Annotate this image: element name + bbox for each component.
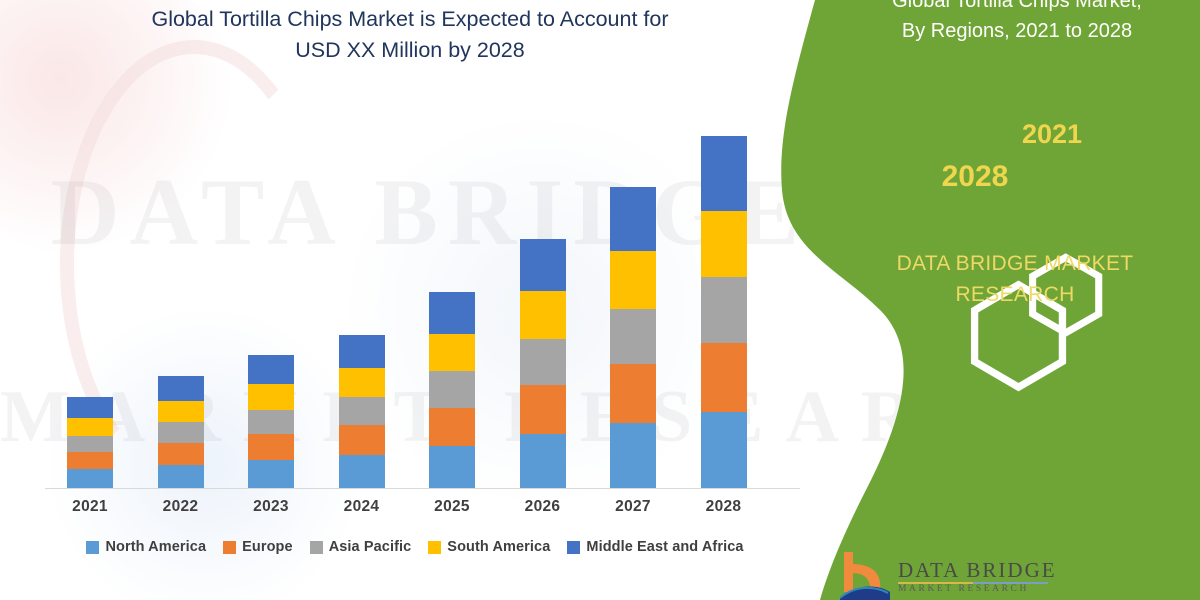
bar-segment-2022-europe — [158, 443, 204, 465]
bar-segment-2022-middle-east-and-africa — [158, 376, 204, 400]
bar-segment-2023-middle-east-and-africa — [248, 355, 294, 384]
bar-segment-2026-middle-east-and-africa — [520, 239, 566, 291]
bar-segment-2022-asia-pacific — [158, 422, 204, 443]
data-bridge-logo: DATA BRIDGE MARKET RESEARCH — [840, 552, 1170, 600]
panel-brand-text: DATA BRIDGE MARKET RESEARCH — [850, 248, 1180, 310]
x-axis-label-2024: 2024 — [317, 498, 407, 516]
bar-segment-2027-north-america — [610, 423, 656, 488]
x-axis-label-2021: 2021 — [45, 498, 135, 516]
chart-legend: North AmericaEuropeAsia PacificSouth Ame… — [45, 539, 785, 555]
legend-swatch-icon — [310, 541, 323, 554]
x-axis-label-2028: 2028 — [679, 498, 769, 516]
bar-segment-2021-europe — [67, 452, 113, 469]
bar-segment-2022-north-america — [158, 465, 204, 488]
hexagon-label-2021: 2021 — [1002, 119, 1102, 150]
bar-segment-2021-asia-pacific — [67, 436, 113, 452]
bar-segment-2027-south-america — [610, 251, 656, 308]
bar-segment-2023-north-america — [248, 460, 294, 488]
bar-2023 — [248, 355, 294, 488]
legend-item-south-america[interactable]: South America — [428, 539, 550, 555]
bar-2025 — [429, 292, 475, 488]
hexagon-label-2028: 2028 — [920, 160, 1030, 194]
bar-segment-2023-south-america — [248, 384, 294, 410]
bar-segment-2028-asia-pacific — [701, 277, 747, 343]
legend-label: Asia Pacific — [329, 539, 412, 555]
bar-segment-2021-middle-east-and-africa — [67, 397, 113, 418]
x-axis-label-2027: 2027 — [588, 498, 678, 516]
bar-segment-2024-europe — [339, 425, 385, 455]
bar-segment-2021-north-america — [67, 469, 113, 488]
logo-mark-icon — [840, 552, 892, 600]
legend-swatch-icon — [567, 541, 580, 554]
legend-label: South America — [447, 539, 550, 555]
bar-2021 — [67, 397, 113, 488]
logo-name: DATA BRIDGE — [898, 558, 1057, 583]
bar-segment-2023-europe — [248, 434, 294, 460]
bar-segment-2028-middle-east-and-africa — [701, 136, 747, 211]
bar-segment-2026-north-america — [520, 434, 566, 488]
bar-2024 — [339, 335, 385, 488]
bar-segment-2025-south-america — [429, 334, 475, 371]
bar-segment-2022-south-america — [158, 401, 204, 422]
bar-segment-2023-asia-pacific — [248, 410, 294, 434]
bar-2026 — [520, 239, 566, 488]
bar-2027 — [610, 187, 656, 488]
legend-item-europe[interactable]: Europe — [223, 539, 293, 555]
bar-segment-2024-middle-east-and-africa — [339, 335, 385, 368]
x-axis-label-2022: 2022 — [136, 498, 226, 516]
legend-item-north-america[interactable]: North America — [86, 539, 206, 555]
bar-segment-2025-north-america — [429, 446, 475, 488]
bar-segment-2027-middle-east-and-africa — [610, 187, 656, 251]
bar-2028 — [701, 136, 747, 488]
bar-segment-2026-asia-pacific — [520, 339, 566, 386]
bar-segment-2026-south-america — [520, 291, 566, 339]
legend-label: Europe — [242, 539, 293, 555]
chart-plot-area — [0, 0, 820, 488]
legend-swatch-icon — [86, 541, 99, 554]
bar-segment-2028-north-america — [701, 412, 747, 488]
bar-segment-2024-asia-pacific — [339, 397, 385, 425]
bar-segment-2025-europe — [429, 408, 475, 446]
bar-segment-2028-europe — [701, 343, 747, 412]
x-axis-label-2023: 2023 — [226, 498, 316, 516]
infographic-canvas: DATA BRIDGE MARKET RESEARCH Global Torti… — [0, 0, 1200, 600]
hexagon-group: 2021 2028 — [770, 0, 1200, 260]
x-axis-label-2026: 2026 — [498, 498, 588, 516]
bar-segment-2026-europe — [520, 385, 566, 434]
bar-segment-2028-south-america — [701, 211, 747, 277]
stacked-bar-chart: 20212022202320242025202620272028 — [0, 0, 820, 520]
bar-segment-2025-asia-pacific — [429, 371, 475, 407]
green-side-panel: Global Tortilla Chips Market, By Regions… — [770, 0, 1200, 600]
legend-swatch-icon — [223, 541, 236, 554]
legend-item-asia-pacific[interactable]: Asia Pacific — [310, 539, 412, 555]
legend-item-middle-east-and-africa[interactable]: Middle East and Africa — [567, 539, 743, 555]
bar-segment-2024-north-america — [339, 455, 385, 488]
panel-brand-line-1: DATA BRIDGE MARKET — [850, 248, 1180, 279]
x-axis-label-2025: 2025 — [407, 498, 497, 516]
bar-segment-2027-asia-pacific — [610, 309, 656, 365]
legend-label: Middle East and Africa — [586, 539, 743, 555]
bar-segment-2024-south-america — [339, 368, 385, 397]
logo-tagline: MARKET RESEARCH — [898, 584, 1029, 594]
bar-segment-2021-south-america — [67, 418, 113, 435]
legend-label: North America — [105, 539, 206, 555]
x-axis-line — [45, 488, 800, 489]
bar-segment-2027-europe — [610, 364, 656, 422]
panel-brand-line-2: RESEARCH — [850, 279, 1180, 310]
bar-segment-2025-middle-east-and-africa — [429, 292, 475, 334]
legend-swatch-icon — [428, 541, 441, 554]
bar-2022 — [158, 376, 204, 488]
